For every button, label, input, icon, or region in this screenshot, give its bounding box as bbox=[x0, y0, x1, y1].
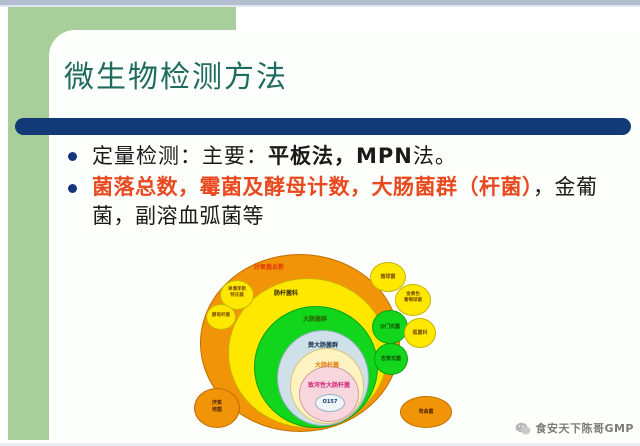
label-aerobic: 好氧菌总数 bbox=[254, 262, 284, 271]
bullet-text-indicators: 菌落总数，霉菌及酵母计数，大肠菌群（杆菌），金葡菌，副溶血弧菌等 bbox=[92, 173, 622, 231]
watermark: 食安天下陈哥GMP bbox=[515, 420, 634, 436]
label-salmonella: 沙门氏菌 bbox=[380, 323, 400, 330]
label-listeria: 单增李斯特氏菌 bbox=[228, 287, 246, 299]
label-ecoli: 大肠杆菌 bbox=[315, 360, 339, 369]
watermark-text: 食安天下陈哥GMP bbox=[535, 420, 634, 436]
label-campylobacter: 弯曲菌 bbox=[418, 408, 433, 415]
label-micrococcus: 微球菌 bbox=[380, 273, 395, 280]
indicator-red-line1: 菌落总数，霉菌及酵母计数，大肠菌群（杆 bbox=[92, 175, 501, 199]
bullet-lead: 定量检测：主要： bbox=[92, 144, 268, 168]
label-anaerobic-culture: 厌氧培菌 bbox=[212, 400, 222, 414]
label-o157: O157 bbox=[323, 399, 338, 405]
label-diarrheal-ecoli: 致泻性大肠杆菌 bbox=[308, 380, 350, 389]
wechat-icon bbox=[515, 421, 531, 435]
bacteria-venn-diagram: 好氧菌总数 肠杆菌科 大肠菌群 粪大肠菌群 大肠杆菌 致泻性大肠杆菌 O157 … bbox=[182, 248, 482, 446]
bullet-dot-icon bbox=[68, 184, 77, 193]
indicator-red-line2: 菌） bbox=[501, 175, 534, 199]
bullet-text-quantitative: 定量检测：主要：平板法，MPN法。 bbox=[92, 141, 622, 171]
label-coliform: 大肠菌群 bbox=[303, 314, 327, 323]
label-enterobacteriaceae: 肠杆菌科 bbox=[274, 288, 298, 297]
bullet-item-quantitative: 定量检测：主要：平板法，MPN法。 bbox=[66, 141, 622, 171]
page-title: 微生物检测方法 bbox=[64, 52, 584, 96]
bullet-list: 定量检测：主要：平板法，MPN法。 菌落总数，霉菌及酵母计数，大肠菌群（杆菌），… bbox=[66, 141, 622, 233]
bullet-dot-icon bbox=[68, 152, 77, 161]
label-yeast: 酵母杆菌 bbox=[212, 313, 230, 319]
left-green-band bbox=[8, 7, 53, 440]
bullet-emphasis: 平板法，MPN bbox=[268, 144, 413, 168]
label-vibrio: 弧菌科 bbox=[412, 329, 427, 336]
bullet-tail: 法。 bbox=[413, 144, 457, 168]
label-fecal-coliform: 粪大肠菌群 bbox=[308, 340, 338, 349]
bullet-item-indicators: 菌落总数，霉菌及酵母计数，大肠菌群（杆菌），金葡菌，副溶血弧菌等 bbox=[66, 173, 622, 231]
slide-canvas: 微生物检测方法 定量检测：主要：平板法，MPN法。 菌落总数，霉菌及酵母计数，大… bbox=[0, 0, 640, 446]
label-shigella: 志贺氏菌 bbox=[381, 355, 401, 362]
label-staphylococcus: 金黄色葡萄球菌 bbox=[404, 292, 422, 304]
title-divider-rule bbox=[15, 118, 631, 135]
